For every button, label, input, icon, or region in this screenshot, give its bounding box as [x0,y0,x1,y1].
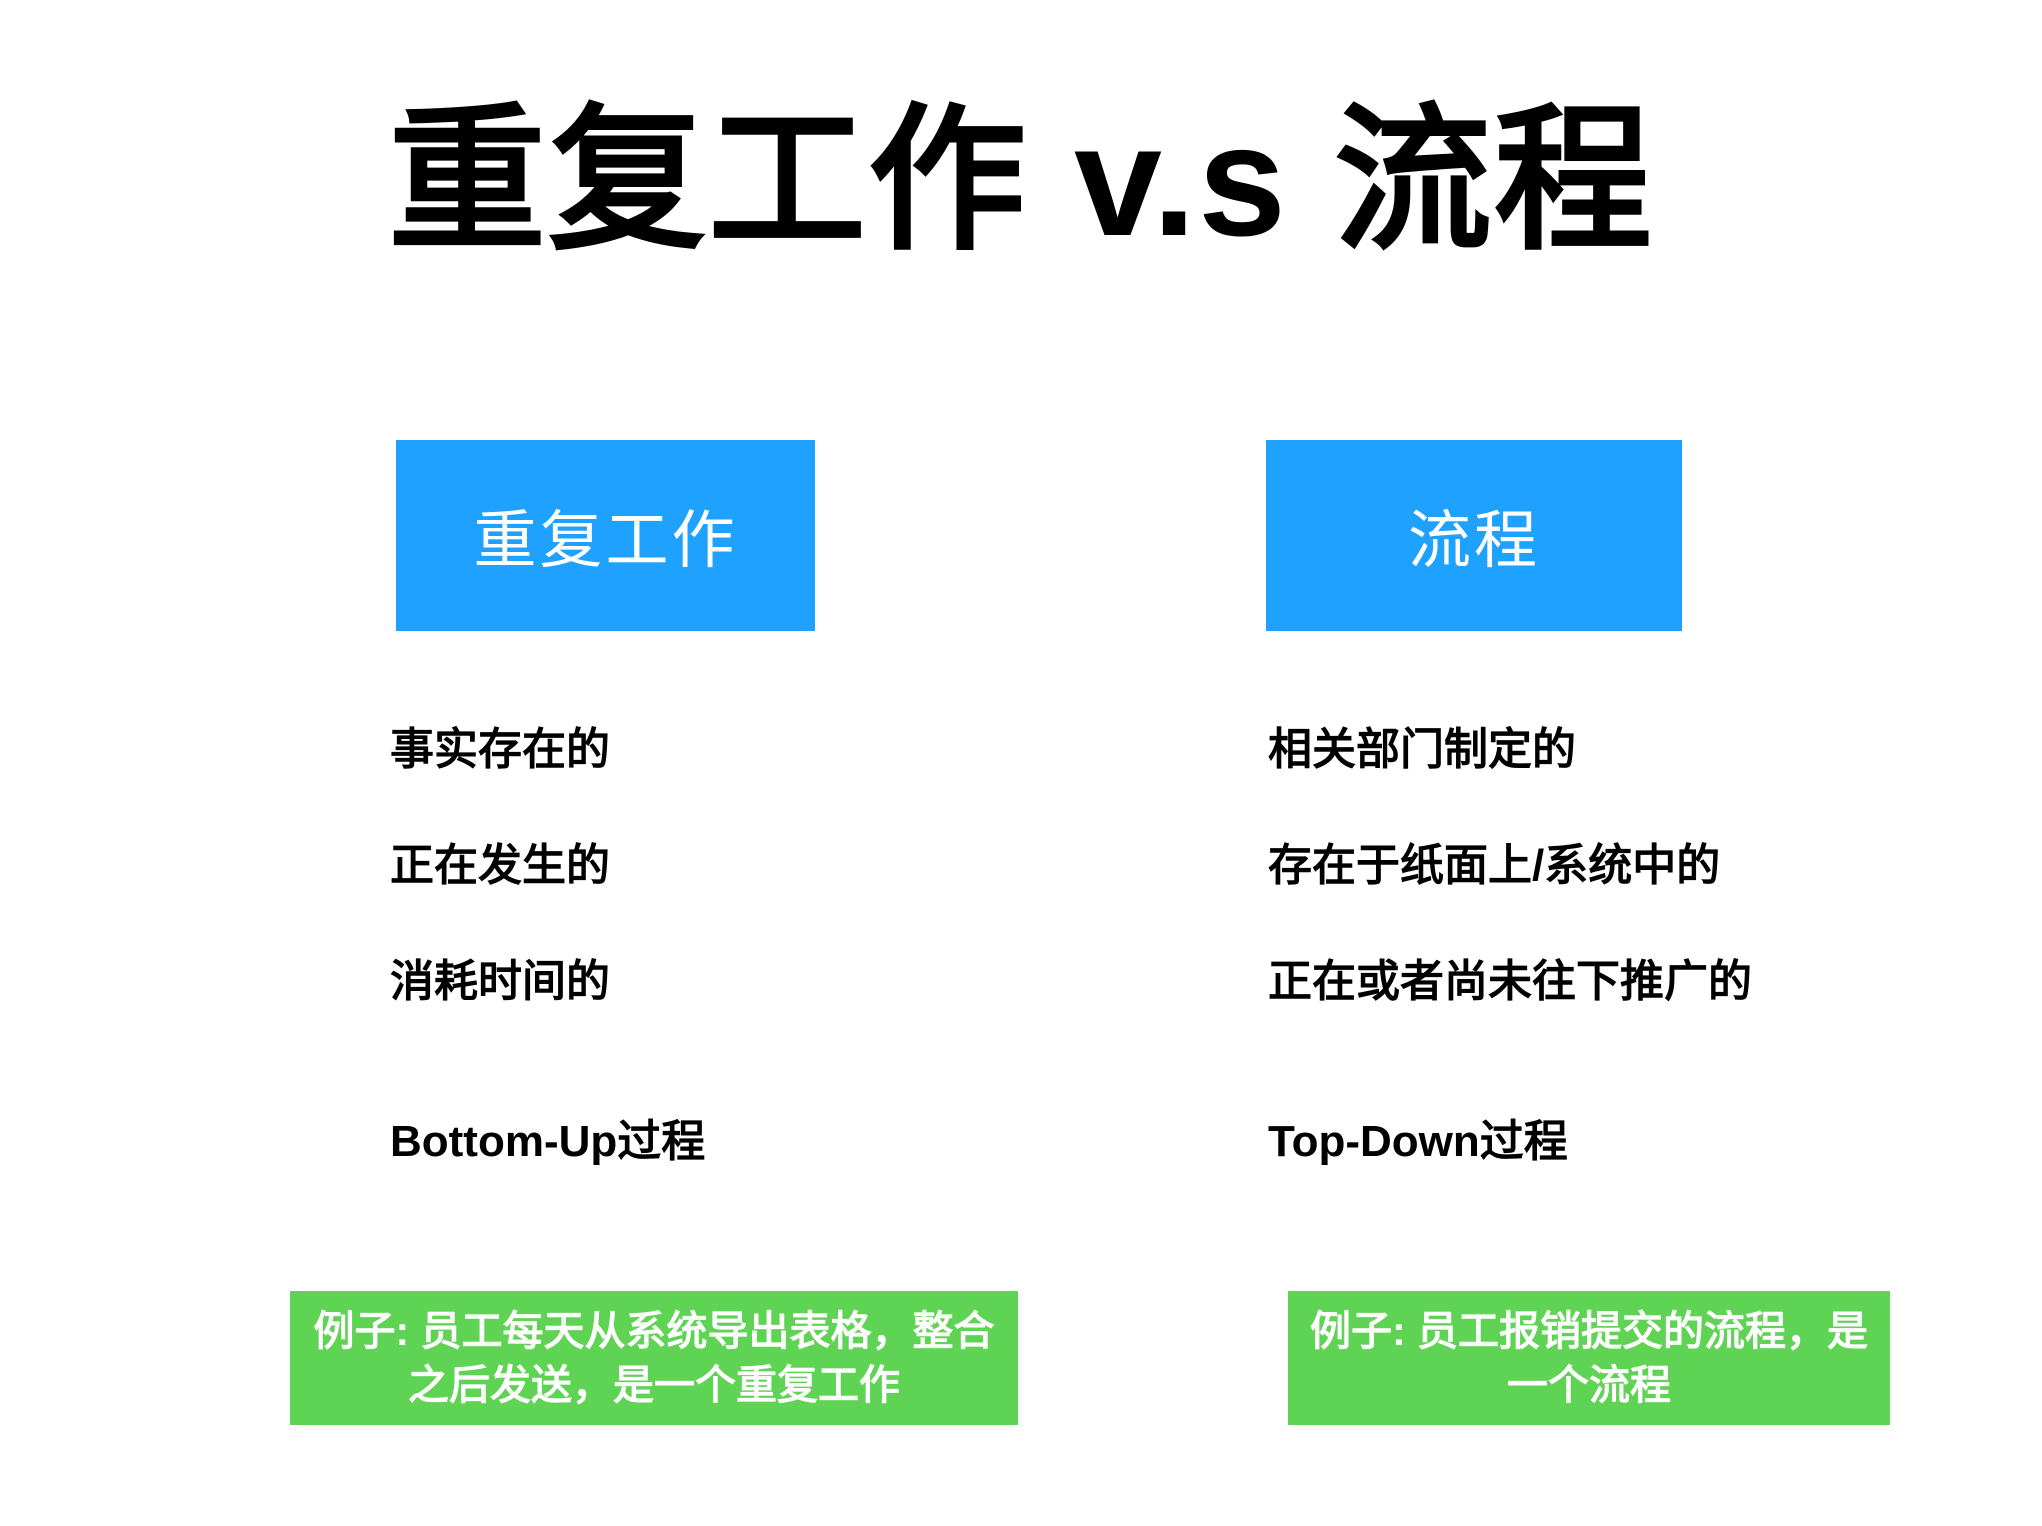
slide-canvas: 重复工作 v.s 流程 重复工作 事实存在的 正在发生的 消耗时间的 Botto… [0,0,2042,1526]
column-repetitive-work: 重复工作 事实存在的 正在发生的 消耗时间的 Bottom-Up过程 [176,440,1036,1164]
list-item: 正在发生的 [390,844,1036,888]
column-header-label: 重复工作 [474,490,738,581]
column-header-chip-repetitive-work: 重复工作 [396,440,815,631]
list-item: 相关部门制定的 [1268,728,1906,772]
example-callout-process: 例子: 员工报销提交的流程，是一个流程 [1288,1291,1890,1425]
bullet-list-repetitive-work: 事实存在的 正在发生的 消耗时间的 Bottom-Up过程 [176,728,1036,1164]
column-process: 流程 相关部门制定的 存在于纸面上/系统中的 正在或者尚未往下推广的 Top-D… [1046,440,1906,1164]
list-item: 消耗时间的 [390,960,1036,1004]
bullet-list-process: 相关部门制定的 存在于纸面上/系统中的 正在或者尚未往下推广的 Top-Down… [1046,728,1906,1164]
list-item: 事实存在的 [390,728,1036,772]
column-header-chip-process: 流程 [1266,440,1682,631]
list-item: 正在或者尚未往下推广的 [1268,960,1906,1004]
column-summary-repetitive-work: Bottom-Up过程 [390,1120,1036,1164]
page-title: 重复工作 v.s 流程 [0,96,2042,267]
column-summary-process: Top-Down过程 [1268,1120,1906,1164]
example-callout-text: 例子: 员工报销提交的流程，是一个流程 [1304,1304,1874,1412]
example-callout-repetitive-work: 例子: 员工每天从系统导出表格，整合之后发送，是一个重复工作 [290,1291,1018,1425]
column-header-label: 流程 [1408,490,1540,581]
example-callout-text: 例子: 员工每天从系统导出表格，整合之后发送，是一个重复工作 [306,1304,1002,1412]
list-item: 存在于纸面上/系统中的 [1268,844,1906,888]
